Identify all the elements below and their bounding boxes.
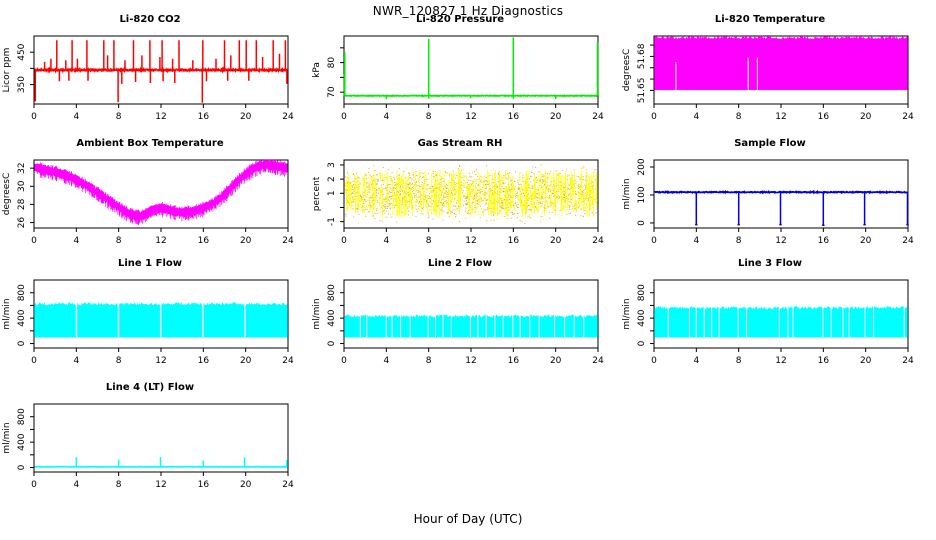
- data-gap: [711, 305, 712, 337]
- data-gap: [564, 313, 565, 337]
- data-gap: [822, 305, 823, 337]
- y-axis-title: ml/min: [2, 422, 12, 453]
- data-gap: [366, 313, 367, 337]
- data-gap: [574, 313, 575, 337]
- data-gap: [704, 305, 705, 337]
- x-tick-label: 24: [592, 356, 604, 366]
- plot-canvas: 04812162024350450Licor ppm: [0, 14, 300, 134]
- data-gap: [738, 305, 739, 337]
- data-gap: [787, 305, 788, 337]
- x-tick-label: 20: [240, 112, 252, 122]
- spikes: [695, 192, 909, 225]
- data-gap: [400, 313, 401, 337]
- x-tick-label: 24: [282, 112, 294, 122]
- panel-sample-flow: Sample Flow048121620240100200ml/min: [620, 138, 920, 258]
- x-tick-label: 16: [508, 356, 520, 366]
- y-tick-label: 51.65: [637, 78, 647, 104]
- y-tick-label: 26: [17, 217, 27, 229]
- y-tick-label: 400: [17, 309, 27, 326]
- band-noise: [36, 159, 287, 225]
- plot-canvas: 0481216202426283032degreesC: [0, 138, 300, 258]
- y-axis-title: Licor ppm: [2, 48, 12, 93]
- x-tick-label: 20: [860, 236, 872, 246]
- scatter-streaks: [345, 169, 597, 217]
- y-tick-label: 30: [17, 180, 27, 192]
- y-axis-title: ml/min: [622, 298, 632, 329]
- plot-frame: [344, 36, 598, 104]
- plot-frame: [344, 280, 598, 348]
- x-tick-label: 24: [592, 112, 604, 122]
- y-tick-label: 80: [327, 57, 337, 69]
- spikes: [76, 457, 287, 467]
- x-tick-label: 12: [155, 112, 166, 122]
- x-tick-label: 16: [198, 236, 210, 246]
- x-tick-label: 8: [426, 236, 432, 246]
- data-gap: [512, 313, 513, 337]
- y-tick-label: 51.68: [637, 43, 647, 69]
- x-tick-label: 8: [116, 112, 122, 122]
- x-tick-label: 0: [341, 112, 347, 122]
- x-tick-label: 0: [651, 112, 657, 122]
- data-gap: [668, 305, 669, 337]
- data-gap: [503, 313, 504, 337]
- data-gap: [831, 305, 832, 337]
- data-gap: [410, 313, 411, 337]
- x-tick-label: 4: [693, 356, 699, 366]
- y-tick-label: 800: [17, 284, 27, 301]
- data-gap: [520, 313, 521, 337]
- x-tick-label: 12: [465, 112, 476, 122]
- data-gap: [360, 313, 361, 337]
- data-series: [35, 40, 288, 102]
- panel-line-4-lt-flow: Line 4 (LT) Flow048121620240400800ml/min: [0, 382, 300, 502]
- x-tick-label: 16: [198, 356, 210, 366]
- data-series: [35, 159, 287, 225]
- area-fill: [655, 306, 908, 337]
- x-tick-label: 8: [116, 356, 122, 366]
- x-tick-label: 20: [860, 356, 872, 366]
- data-gap: [160, 301, 161, 337]
- plot-canvas: 048121620240400800ml/min: [310, 258, 610, 378]
- data-gap: [842, 305, 843, 337]
- panel-title: Line 2 Flow: [310, 258, 610, 269]
- y-tick-label: -1: [327, 217, 337, 226]
- x-tick-label: 0: [31, 356, 37, 366]
- y-axis-title: degreesC: [622, 49, 632, 92]
- panel-li-820-temperature: Li-820 Temperature0481216202451.6551.68d…: [620, 14, 920, 134]
- y-tick-label: 32: [17, 162, 27, 173]
- panel-title: Li-820 CO2: [0, 14, 300, 25]
- x-tick-label: 0: [31, 112, 37, 122]
- x-tick-label: 24: [902, 356, 914, 366]
- data-gap: [583, 313, 584, 337]
- y-axis-title: percent: [312, 176, 322, 211]
- x-tick-label: 0: [31, 480, 37, 490]
- data-gap: [539, 313, 540, 337]
- x-tick-label: 8: [426, 356, 432, 366]
- plot-canvas: 048121620240400800ml/min: [0, 258, 300, 378]
- plot-canvas: 04812162024-1123percent: [310, 138, 610, 258]
- x-tick-label: 12: [775, 112, 786, 122]
- x-tick-label: 0: [341, 356, 347, 366]
- plot-canvas: 048121620240400800ml/min: [620, 258, 920, 378]
- x-tick-label: 0: [31, 236, 37, 246]
- panel-title: Line 4 (LT) Flow: [0, 382, 300, 393]
- x-tick-label: 0: [651, 356, 657, 366]
- x-tick-label: 20: [240, 480, 252, 490]
- data-gap: [486, 313, 487, 337]
- x-tick-label: 12: [775, 236, 786, 246]
- y-tick-label: 200: [637, 158, 647, 175]
- x-tick-label: 12: [775, 356, 786, 366]
- plot-canvas: 048121620240100200ml/min: [620, 138, 920, 258]
- panel-title: Li-820 Pressure: [310, 14, 610, 25]
- y-tick-label: 350: [17, 76, 27, 93]
- x-tick-label: 4: [383, 236, 389, 246]
- y-tick-label: 800: [17, 408, 27, 425]
- x-tick-label: 4: [693, 236, 699, 246]
- y-tick-label: 0: [637, 340, 647, 346]
- x-tick-label: 24: [592, 236, 604, 246]
- y-tick-label: 28: [17, 198, 27, 210]
- data-series: [655, 36, 908, 90]
- y-tick-label: 800: [327, 284, 337, 301]
- data-gap: [849, 305, 850, 337]
- data-gap: [689, 305, 690, 337]
- data-gap: [202, 301, 203, 337]
- panel-line-3-flow: Line 3 Flow048121620240400800ml/min: [620, 258, 920, 378]
- x-tick-label: 20: [550, 112, 562, 122]
- x-tick-label: 12: [155, 236, 166, 246]
- y-tick-label: 0: [17, 464, 27, 470]
- x-tick-label: 20: [240, 356, 252, 366]
- data-series: [35, 457, 288, 467]
- x-tick-label: 0: [651, 236, 657, 246]
- y-tick-label: 0: [327, 340, 337, 346]
- data-gap: [719, 305, 720, 337]
- x-tick-label: 8: [736, 236, 742, 246]
- data-gap: [904, 305, 905, 337]
- x-tick-label: 20: [550, 356, 562, 366]
- y-axis-title: ml/min: [2, 298, 12, 329]
- y-tick-label: 450: [17, 43, 27, 60]
- panel-line-2-flow: Line 2 Flow048121620240400800ml/min: [310, 258, 610, 378]
- x-tick-label: 4: [693, 112, 699, 122]
- plot-canvas: 0481216202451.6551.68degreesC: [620, 14, 920, 134]
- y-tick-label: 400: [17, 433, 27, 450]
- x-tick-label: 8: [736, 356, 742, 366]
- panel-gas-stream-rh: Gas Stream RH04812162024-1123percent: [310, 138, 610, 258]
- x-tick-label: 8: [426, 112, 432, 122]
- spikes: [345, 38, 598, 100]
- x-tick-label: 0: [341, 236, 347, 246]
- data-gap: [748, 58, 749, 90]
- x-tick-label: 12: [465, 356, 476, 366]
- x-tick-label: 4: [383, 112, 389, 122]
- data-series: [35, 301, 288, 337]
- panel-title: Sample Flow: [620, 138, 920, 149]
- data-gap: [442, 313, 443, 337]
- data-gap: [470, 313, 471, 337]
- data-gap: [793, 305, 794, 337]
- area-fill: [345, 315, 598, 338]
- data-gap: [865, 305, 866, 337]
- data-series: [345, 164, 597, 224]
- data-gap: [757, 58, 758, 90]
- x-tick-label: 12: [465, 236, 476, 246]
- x-tick-label: 16: [818, 356, 830, 366]
- panel-title: Li-820 Temperature: [620, 14, 920, 25]
- panel-title: Line 3 Flow: [620, 258, 920, 269]
- x-tick-label: 24: [902, 112, 914, 122]
- panel-li-820-pressure: Li-820 Pressure048121620247080kPa: [310, 14, 610, 134]
- data-series: [655, 191, 909, 225]
- y-axis-title: ml/min: [312, 298, 322, 329]
- data-gap: [529, 313, 530, 337]
- y-axis-title: kPa: [312, 62, 322, 78]
- x-tick-label: 20: [860, 112, 872, 122]
- y-tick-label: 800: [637, 284, 647, 301]
- data-series: [655, 305, 908, 337]
- x-tick-label: 24: [282, 236, 294, 246]
- data-gap: [746, 305, 747, 337]
- x-axis-super-label: Hour of Day (UTC): [0, 512, 936, 526]
- data-gap: [696, 305, 697, 337]
- panel-ambient-box-temperature: Ambient Box Temperature04812162024262830…: [0, 138, 300, 258]
- x-tick-label: 8: [116, 480, 122, 490]
- data-gap: [428, 313, 429, 337]
- panel-title: Gas Stream RH: [310, 138, 610, 149]
- x-tick-label: 20: [550, 236, 562, 246]
- x-tick-label: 4: [73, 480, 79, 490]
- data-gap: [675, 62, 676, 90]
- x-tick-label: 16: [198, 112, 210, 122]
- x-tick-label: 16: [818, 236, 830, 246]
- data-gap: [392, 313, 393, 337]
- x-tick-label: 20: [240, 236, 252, 246]
- data-series: [345, 38, 598, 100]
- x-tick-label: 4: [383, 356, 389, 366]
- x-tick-label: 8: [736, 112, 742, 122]
- data-gap: [435, 313, 436, 337]
- y-tick-label: 2: [327, 176, 337, 182]
- y-axis-title: degreesC: [2, 173, 12, 216]
- panel-line-1-flow: Line 1 Flow048121620240400800ml/min: [0, 258, 300, 378]
- panel-title: Ambient Box Temperature: [0, 138, 300, 149]
- y-tick-label: 0: [17, 340, 27, 346]
- x-tick-label: 4: [73, 356, 79, 366]
- x-tick-label: 8: [116, 236, 122, 246]
- data-gap: [554, 313, 555, 337]
- y-tick-label: 3: [327, 162, 337, 168]
- panel-title: Line 1 Flow: [0, 258, 300, 269]
- x-tick-label: 12: [155, 480, 166, 490]
- x-tick-label: 16: [818, 112, 830, 122]
- x-tick-label: 16: [508, 112, 520, 122]
- data-gap: [779, 305, 780, 337]
- data-gap: [494, 313, 495, 337]
- data-gap: [451, 313, 452, 337]
- y-tick-label: 100: [637, 186, 647, 203]
- data-gap: [477, 313, 478, 337]
- x-tick-label: 12: [155, 356, 166, 366]
- panel-li-820-co2: Li-820 CO204812162024350450Licor ppm: [0, 14, 300, 134]
- area-fill: [655, 36, 908, 90]
- y-tick-label: 1: [327, 190, 337, 196]
- plot-canvas: 048121620240400800ml/min: [0, 382, 300, 502]
- x-tick-label: 16: [508, 236, 520, 246]
- y-tick-label: 400: [327, 309, 337, 326]
- diagnostics-figure: NWR_120827 1 Hz Diagnostics Li-820 CO204…: [0, 0, 936, 540]
- x-tick-label: 4: [73, 112, 79, 122]
- y-tick-label: 400: [637, 309, 647, 326]
- y-tick-label: 70: [327, 86, 337, 98]
- plot-canvas: 048121620247080kPa: [310, 14, 610, 134]
- data-gap: [76, 301, 77, 337]
- data-series: [345, 313, 598, 337]
- x-tick-label: 4: [73, 236, 79, 246]
- y-axis-title: ml/min: [622, 178, 632, 209]
- data-gap: [386, 313, 387, 337]
- x-tick-label: 24: [282, 480, 294, 490]
- x-tick-label: 24: [282, 356, 294, 366]
- x-tick-label: 16: [198, 480, 210, 490]
- x-tick-label: 24: [902, 236, 914, 246]
- data-gap: [118, 301, 119, 337]
- data-gap: [873, 305, 874, 337]
- data-gap: [244, 301, 245, 337]
- y-tick-label: 0: [637, 220, 647, 226]
